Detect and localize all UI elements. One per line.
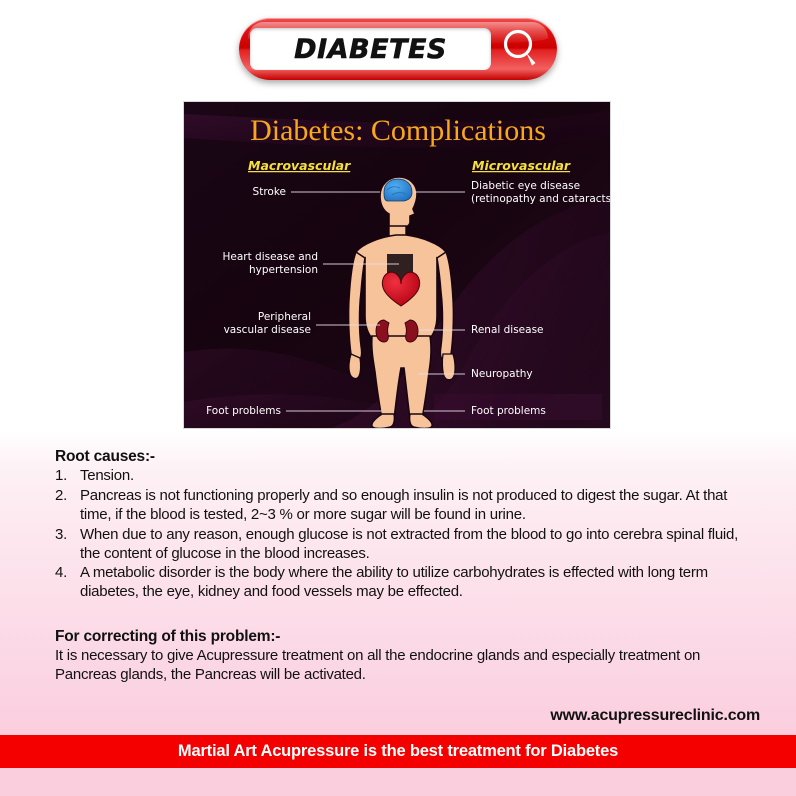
diagram-title: Diabetes: Complications <box>250 114 546 147</box>
root-causes-heading: Root causes:- <box>55 448 755 466</box>
list-text: A metabolic disorder is the body where t… <box>80 564 708 600</box>
footer-banner: Martial Art Acupressure is the best trea… <box>0 735 796 768</box>
footer-text: Martial Art Acupressure is the best trea… <box>178 742 618 761</box>
label-diabetic-eye-disease: Diabetic eye disease <box>471 180 580 192</box>
list-item: 3. When due to any reason, enough glucos… <box>55 526 755 564</box>
list-text: When due to any reason, enough glucose i… <box>80 526 738 562</box>
list-text: Pancreas is not functioning properly and… <box>80 487 727 523</box>
brain-icon <box>384 179 412 201</box>
diagram-svg: Diabetes: Complications Macrovascular Mi… <box>184 102 611 429</box>
kidney-left <box>376 320 389 342</box>
correction-paragraph: It is necessary to give Acupressure trea… <box>55 647 755 685</box>
list-item: 1. Tension. <box>55 467 755 486</box>
list-item: 4. A metabolic disorder is the body wher… <box>55 564 755 602</box>
list-text: Tension. <box>80 467 134 484</box>
macrovascular-heading: Macrovascular <box>248 158 351 173</box>
label-retinopathy: (retinopathy and cataracts) <box>471 193 611 205</box>
kidney-right <box>405 320 418 342</box>
label-foot-problems-right: Foot problems <box>471 405 546 417</box>
label-heart-disease: Heart disease and <box>222 251 318 263</box>
footer-strip <box>0 768 796 796</box>
list-number: 3. <box>55 526 75 545</box>
label-stroke: Stroke <box>253 186 286 198</box>
list-number: 2. <box>55 487 75 506</box>
label-renal-disease: Renal disease <box>471 324 544 336</box>
list-number: 4. <box>55 564 75 583</box>
label-foot-problems-left: Foot problems <box>206 405 281 417</box>
list-item: 2. Pancreas is not functioning properly … <box>55 487 755 525</box>
search-icon[interactable] <box>497 24 547 74</box>
diabetes-complications-diagram: Diabetes: Complications Macrovascular Mi… <box>183 101 611 429</box>
microvascular-heading: Microvascular <box>472 158 571 173</box>
website-link[interactable]: www.acupressureclinic.com <box>550 707 760 725</box>
correction-heading: For correcting of this problem:- <box>55 628 755 646</box>
article-content: Root causes:- 1. Tension. 2. Pancreas is… <box>55 448 755 685</box>
search-banner[interactable]: DIABETES <box>239 18 557 80</box>
root-causes-list: 1. Tension. 2. Pancreas is not functioni… <box>55 467 755 602</box>
header: DIABETES <box>0 18 796 102</box>
search-input[interactable]: DIABETES <box>250 28 491 70</box>
label-peripheral: Peripheral <box>258 311 311 323</box>
search-term-text: DIABETES <box>294 34 447 65</box>
list-number: 1. <box>55 467 75 486</box>
label-hypertension: hypertension <box>249 264 318 276</box>
label-vascular-disease: vascular disease <box>224 324 311 336</box>
label-neuropathy: Neuropathy <box>471 368 533 380</box>
